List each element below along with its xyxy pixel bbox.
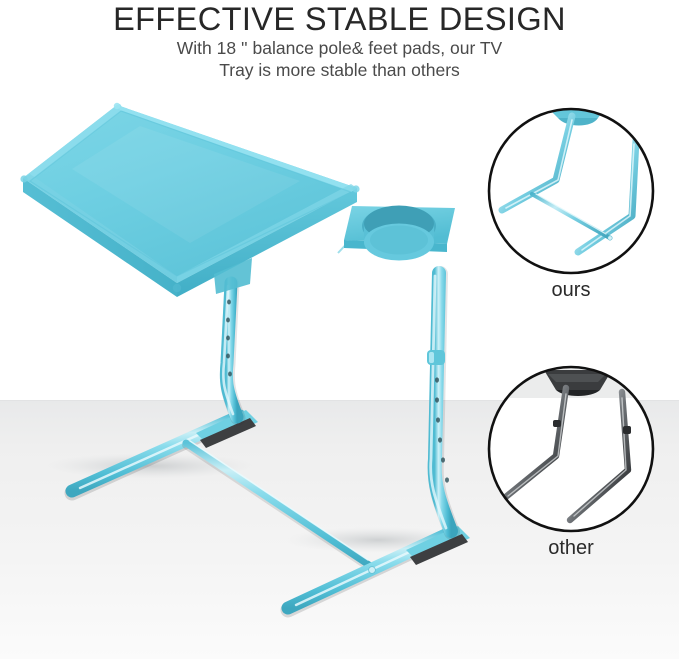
- brace-joint-rivet: [369, 567, 376, 574]
- inset-other: other: [486, 364, 662, 559]
- product-feature-image: EFFECTIVE STABLE DESIGN With 18 '' balan…: [0, 0, 679, 659]
- inset-ours-label: ours: [486, 279, 656, 301]
- page-title: EFFECTIVE STABLE DESIGN: [0, 2, 679, 36]
- product-illustration: [0, 88, 490, 648]
- tray-top: [20, 103, 359, 297]
- subtitle-line-2: Tray is more stable than others: [0, 60, 679, 82]
- inset-other-label: other: [486, 537, 656, 559]
- inset-other-circle: [486, 364, 656, 534]
- inset-ours: ours: [486, 106, 662, 301]
- balance-pole-cross-brace: [186, 441, 372, 569]
- telescope-collar: [427, 350, 445, 365]
- left-pole: [223, 283, 238, 418]
- inset-ours-circle: [486, 106, 656, 276]
- subtitle-line-1: With 18 '' balance pole& feet pads, our …: [0, 38, 679, 60]
- cup-holder: [338, 206, 455, 261]
